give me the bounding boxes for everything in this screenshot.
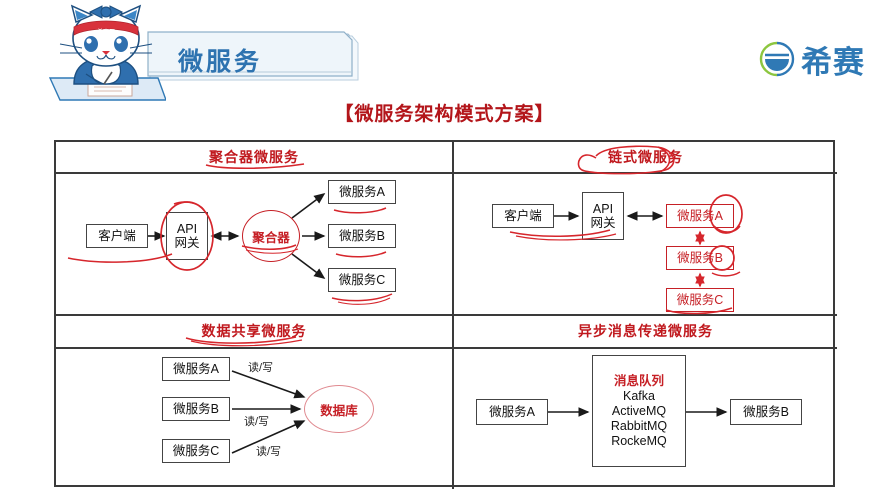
architecture-matrix: 聚合器微服务 链式微服务 数据共享微服务 异步消息传递微服务 客户端 API 网…	[54, 140, 835, 487]
node-client[interactable]: 客户端	[86, 224, 148, 248]
brand-logo: 希赛	[757, 38, 865, 80]
svg-text:希赛网: 希赛网	[97, 28, 115, 36]
node-client[interactable]: 客户端	[492, 204, 554, 228]
circle-logo-icon	[757, 39, 797, 79]
message-queue-item-rockemq: RockeMQ	[611, 434, 667, 448]
brand-text: 希赛	[801, 37, 865, 82]
message-queue-item-rabbitmq: RabbitMQ	[611, 419, 667, 433]
cat-mascot-icon: 希赛网	[46, 4, 166, 104]
edge-label-rw-c: 读/写	[256, 443, 281, 459]
node-api-gateway[interactable]: API 网关	[582, 192, 624, 240]
slide-root: 希赛网 微服务 希赛 【微服务架	[0, 0, 889, 500]
node-service-b[interactable]: 微服务B	[328, 224, 396, 248]
node-service-b[interactable]: 微服务B	[730, 399, 802, 425]
banner-title: 微服务	[178, 42, 262, 78]
node-service-b[interactable]: 微服务B	[162, 397, 230, 421]
node-service-b[interactable]: 微服务B	[666, 246, 734, 270]
node-service-a[interactable]: 微服务A	[162, 357, 230, 381]
node-database[interactable]: 数据库	[304, 385, 374, 433]
node-service-c[interactable]: 微服务C	[666, 288, 734, 312]
edge-label-rw-a: 读/写	[248, 359, 273, 375]
quadrant-body-aggregator: 客户端 API 网关 聚合器 微服务A 微服务B 微服务C	[56, 174, 452, 314]
quadrant-header-chain: 链式微服务	[454, 142, 837, 172]
message-queue-item-activemq: ActiveMQ	[612, 404, 666, 418]
edge-label-rw-b: 读/写	[244, 413, 269, 429]
quadrant-header-async: 异步消息传递微服务	[454, 316, 837, 346]
quadrant-header-aggregator: 聚合器微服务	[56, 142, 452, 172]
node-service-a[interactable]: 微服务A	[328, 180, 396, 204]
quadrant-header-data-sharing: 数据共享微服务	[56, 316, 452, 346]
node-service-c[interactable]: 微服务C	[162, 439, 230, 463]
node-message-queue[interactable]: 消息队列 Kafka ActiveMQ RabbitMQ RockeMQ	[592, 355, 686, 467]
message-queue-item-kafka: Kafka	[623, 389, 655, 403]
quadrant-body-async: 微服务A 消息队列 Kafka ActiveMQ RabbitMQ RockeM…	[454, 349, 837, 487]
node-service-c[interactable]: 微服务C	[328, 268, 396, 292]
node-aggregator[interactable]: 聚合器	[242, 210, 300, 262]
node-service-a[interactable]: 微服务A	[666, 204, 734, 228]
chain-connectors	[454, 174, 837, 314]
node-service-a[interactable]: 微服务A	[476, 399, 548, 425]
quadrant-body-data-sharing: 微服务A 微服务B 微服务C 数据库 读/写 读/写 读/写	[56, 349, 452, 487]
page-title: 【微服务架构模式方案】	[0, 99, 889, 126]
message-queue-title: 消息队列	[614, 374, 664, 388]
quadrant-body-chain: 客户端 API 网关 微服务A 微服务B 微服务C	[454, 174, 837, 314]
slide-header: 希赛网 微服务 希赛	[0, 0, 889, 100]
node-api-gateway[interactable]: API 网关	[166, 212, 208, 260]
